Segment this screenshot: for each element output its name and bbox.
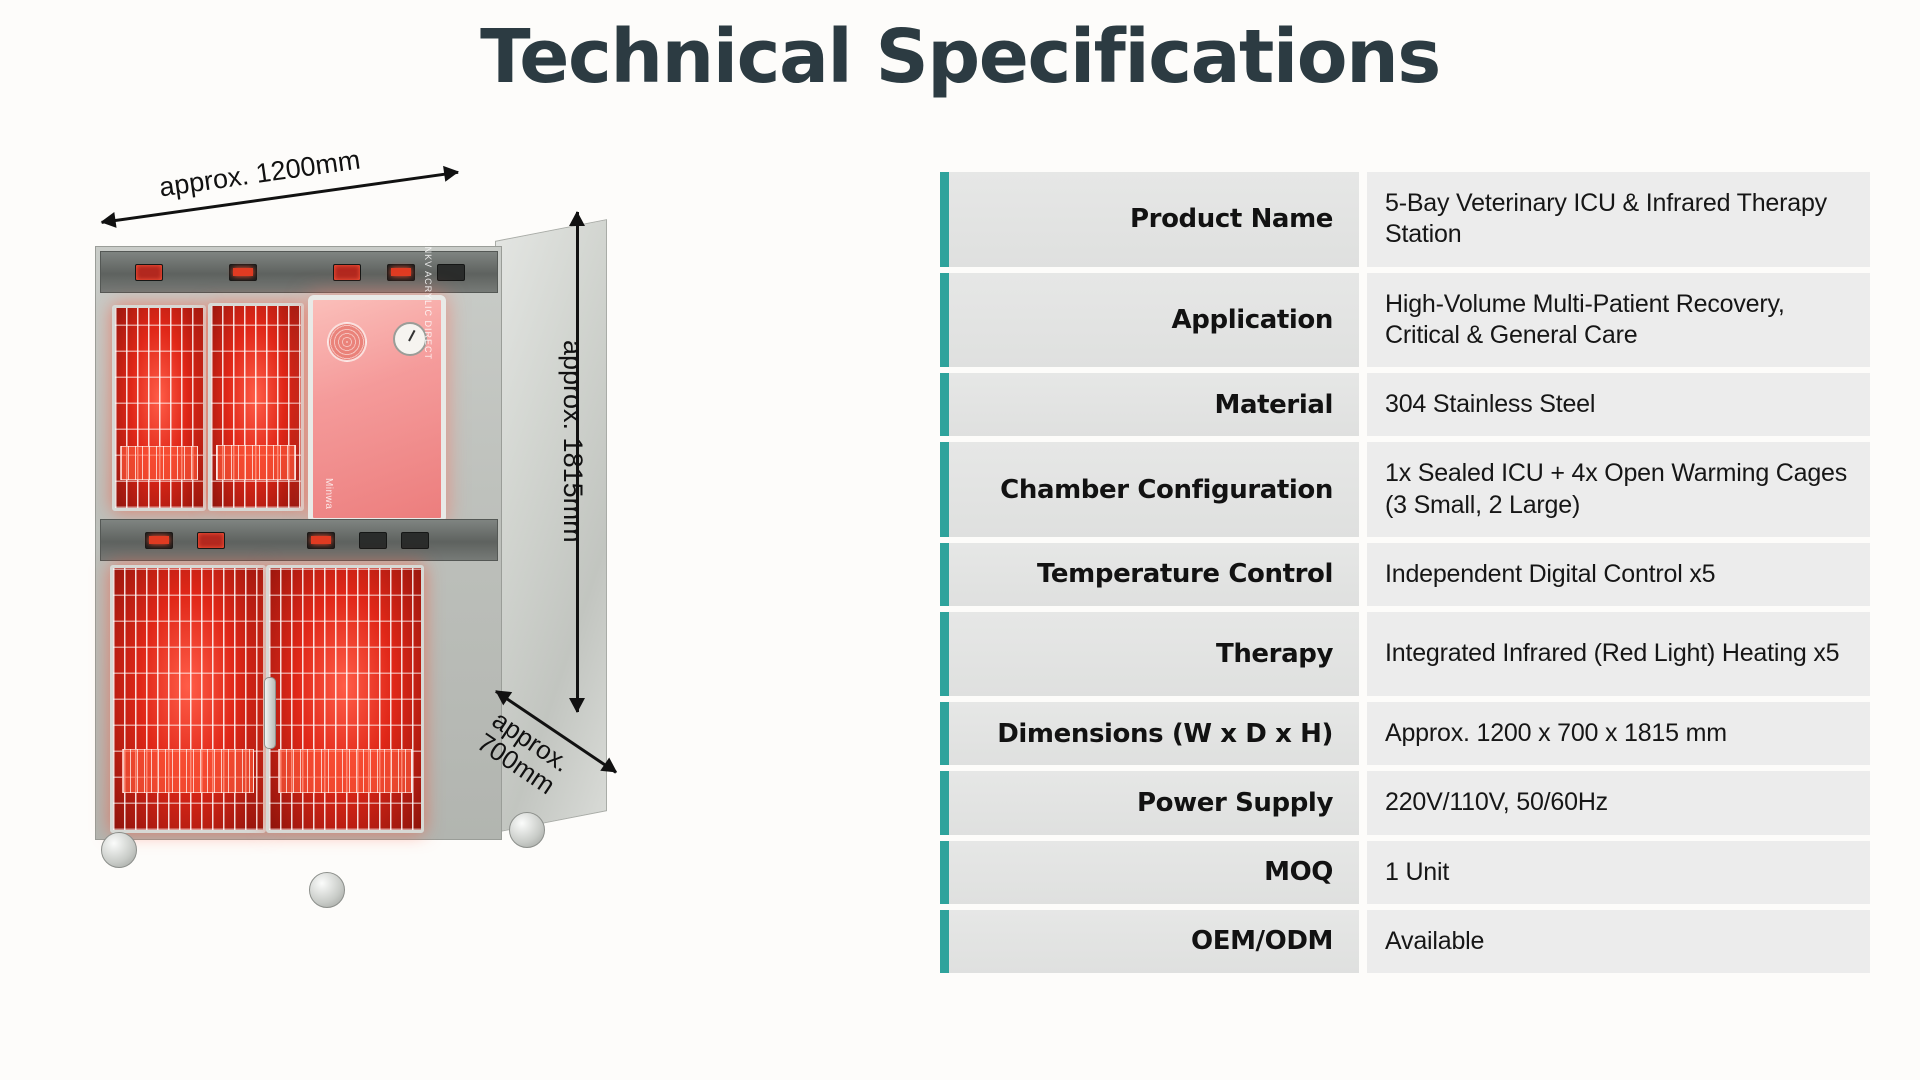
- indicator-light-icon: [135, 264, 163, 281]
- spec-row: Material304 Stainless Steel: [940, 373, 1870, 436]
- spec-row: OEM/ODMAvailable: [940, 910, 1870, 973]
- spec-row: Dimensions (W x D x H)Approx. 1200 x 700…: [940, 702, 1870, 765]
- chamber-brand-text: CNKV ACRYLIC DIRECT: [423, 239, 433, 360]
- caster-wheel-icon: [309, 872, 345, 908]
- height-dimension-label: approx. 1815mm: [557, 340, 588, 543]
- spec-value: Integrated Infrared (Red Light) Heating …: [1367, 612, 1870, 696]
- cage-floor-grate: [278, 749, 412, 793]
- row-accent-bar: [940, 612, 949, 696]
- spec-row: TherapyIntegrated Infrared (Red Light) H…: [940, 612, 1870, 696]
- cage-floor-grate: [216, 445, 295, 479]
- indicator-light-icon: [197, 532, 225, 549]
- digital-display-icon: [229, 264, 257, 281]
- cage-door-handle: [264, 677, 276, 749]
- technical-specifications-page: Technical Specifications: [0, 0, 1920, 1080]
- warming-cage-large-1: [110, 565, 266, 833]
- spec-label: Chamber Configuration: [949, 442, 1359, 537]
- specifications-table: Product Name5-Bay Veterinary ICU & Infra…: [940, 172, 1870, 979]
- product-image: CNKV ACRYLIC DIRECT Minwa: [60, 130, 740, 910]
- spec-row: MOQ1 Unit: [940, 841, 1870, 904]
- spec-label: OEM/ODM: [949, 910, 1359, 973]
- digital-display-icon: [387, 264, 415, 281]
- control-panel-middle: [100, 519, 498, 561]
- spec-label: Power Supply: [949, 771, 1359, 834]
- spec-value: Approx. 1200 x 700 x 1815 mm: [1367, 702, 1870, 765]
- warming-cage-small-2: [208, 303, 304, 511]
- width-dimension-label: approx. 1200mm: [157, 144, 362, 203]
- spec-row: ApplicationHigh-Volume Multi-Patient Rec…: [940, 273, 1870, 368]
- row-accent-bar: [940, 172, 949, 267]
- cage-floor-grate: [120, 446, 197, 480]
- spec-label: Product Name: [949, 172, 1359, 267]
- spec-value: 5-Bay Veterinary ICU & Infrared Therapy …: [1367, 172, 1870, 267]
- circulation-fan-icon: [327, 322, 367, 362]
- row-accent-bar: [940, 841, 949, 904]
- row-accent-bar: [940, 771, 949, 834]
- row-accent-bar: [940, 373, 949, 436]
- page-title: Technical Specifications: [0, 14, 1920, 100]
- indicator-light-icon: [333, 264, 361, 281]
- chamber-logo-text: Minwa: [323, 478, 334, 509]
- row-accent-bar: [940, 702, 949, 765]
- row-accent-bar: [940, 910, 949, 973]
- spec-value: Independent Digital Control x5: [1367, 543, 1870, 606]
- warming-cage-large-2: [266, 565, 424, 833]
- spec-row: Power Supply220V/110V, 50/60Hz: [940, 771, 1870, 834]
- switch-icon: [437, 264, 465, 281]
- spec-value: 1 Unit: [1367, 841, 1870, 904]
- spec-label: MOQ: [949, 841, 1359, 904]
- spec-row: Temperature ControlIndependent Digital C…: [940, 543, 1870, 606]
- caster-wheel-icon: [101, 832, 137, 868]
- switch-icon: [401, 532, 429, 549]
- spec-label: Dimensions (W x D x H): [949, 702, 1359, 765]
- row-accent-bar: [940, 273, 949, 368]
- row-accent-bar: [940, 543, 949, 606]
- spec-row: Chamber Configuration1x Sealed ICU + 4x …: [940, 442, 1870, 537]
- spec-value: Available: [1367, 910, 1870, 973]
- control-panel-top: [100, 251, 498, 293]
- cabinet-front: CNKV ACRYLIC DIRECT Minwa: [95, 246, 502, 840]
- warming-cage-small-1: [112, 305, 206, 511]
- spec-value: 1x Sealed ICU + 4x Open Warming Cages (3…: [1367, 442, 1870, 537]
- spec-row: Product Name5-Bay Veterinary ICU & Infra…: [940, 172, 1870, 267]
- height-dimension-annotation: approx. 1815mm: [560, 212, 680, 712]
- spec-value: 220V/110V, 50/60Hz: [1367, 771, 1870, 834]
- spec-label: Application: [949, 273, 1359, 368]
- sealed-icu-chamber: CNKV ACRYLIC DIRECT Minwa: [308, 295, 446, 523]
- digital-display-icon: [307, 532, 335, 549]
- switch-icon: [359, 532, 387, 549]
- digital-display-icon: [145, 532, 173, 549]
- row-accent-bar: [940, 442, 949, 537]
- spec-value: 304 Stainless Steel: [1367, 373, 1870, 436]
- spec-label: Material: [949, 373, 1359, 436]
- spec-label: Therapy: [949, 612, 1359, 696]
- spec-label: Temperature Control: [949, 543, 1359, 606]
- cage-floor-grate: [122, 749, 254, 793]
- spec-value: High-Volume Multi-Patient Recovery, Crit…: [1367, 273, 1870, 368]
